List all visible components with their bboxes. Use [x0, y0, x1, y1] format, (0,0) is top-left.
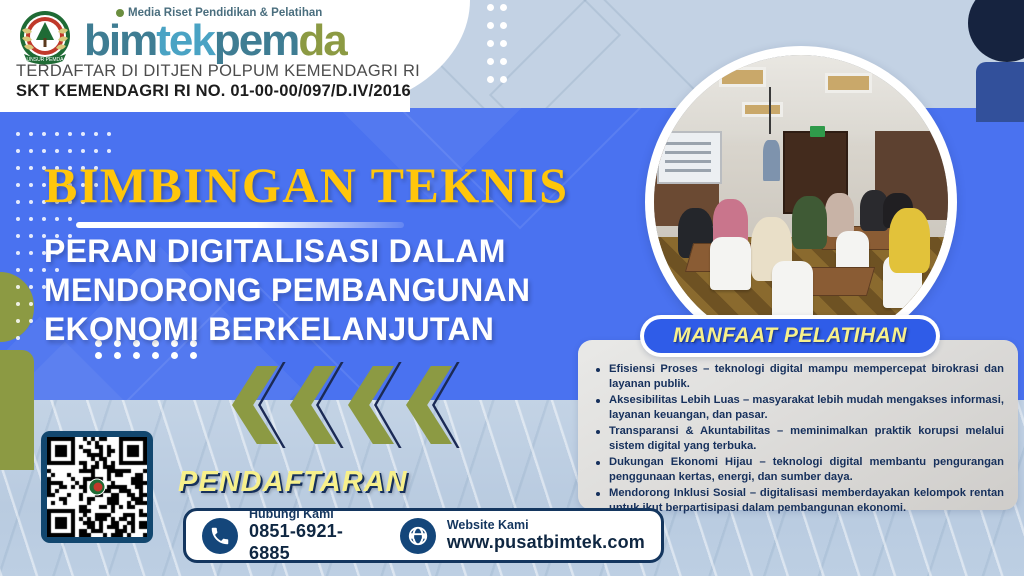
website-label: Website Kami: [447, 518, 645, 532]
seminar-photo: [654, 55, 948, 349]
contact-phone[interactable]: Hubungi Kami 0851-6921-6885: [202, 507, 376, 565]
phone-label: Hubungi Kami: [249, 507, 376, 521]
subtitle-line-2: MENDORONG PEMBANGUNAN: [44, 271, 604, 310]
benefits-list: Efisiensi Proses – teknologi digital mam…: [594, 362, 1004, 516]
poster-canvas: UNSUR PEMDA Media Riset Pendidikan & Pel…: [0, 0, 1024, 576]
brand-name: bimtekpemda: [84, 21, 346, 61]
chevron-arrows-decoration: [232, 366, 482, 444]
seminar-photo-frame: [645, 46, 957, 358]
qr-code-frame[interactable]: [41, 431, 153, 543]
brand-wordmark: Media Riset Pendidikan & Pelatihan bimte…: [84, 8, 346, 61]
subtitle-line-1: PERAN DIGITALISASI DALAM: [44, 232, 604, 271]
website-url: www.pusatbimtek.com: [447, 532, 645, 554]
benefits-panel: Efisiensi Proses – teknologi digital mam…: [578, 340, 1018, 510]
title-divider: [76, 222, 404, 228]
registration-label: PENDAFTARAN: [178, 466, 408, 499]
phone-number: 0851-6921-6885: [249, 521, 376, 564]
blue-rectangle-decoration: [976, 62, 1024, 122]
list-item: Efisiensi Proses – teknologi digital mam…: [594, 362, 1004, 392]
list-item: Transparansi & Akuntabilitas – meminimal…: [594, 424, 1004, 454]
subtitle-line-3: EKONOMI BERKELANJUTAN: [44, 310, 604, 349]
phone-icon: [202, 518, 238, 554]
page-title: BIMBINGAN TEKNIS: [44, 160, 569, 210]
list-item: Dukungan Ekonomi Hijau – teknologi digit…: [594, 455, 1004, 485]
registration-qr-code[interactable]: [47, 437, 147, 537]
registration-line-1: TERDAFTAR DI DITJEN POLPUM KEMENDAGRI RI: [16, 62, 420, 81]
contact-website[interactable]: Website Kami www.pusatbimtek.com: [400, 518, 645, 554]
olive-box-decoration: [0, 350, 34, 470]
registration-line-2: SKT KEMENDAGRI RI NO. 01-00-00/097/D.IV/…: [16, 82, 411, 101]
benefits-badge: MANFAAT PELATIHAN: [640, 315, 940, 357]
bimtek-logo-icon: UNSUR PEMDA: [14, 8, 76, 70]
globe-icon: [400, 518, 436, 554]
page-subtitle: PERAN DIGITALISASI DALAM MENDORONG PEMBA…: [44, 232, 604, 349]
benefits-badge-label: MANFAAT PELATIHAN: [673, 324, 907, 348]
contact-bar: Hubungi Kami 0851-6921-6885 Website Kami…: [183, 508, 664, 563]
list-item: Aksesibilitas Lebih Luas – masyarakat le…: [594, 393, 1004, 423]
qr-center-logo-icon: [89, 479, 106, 496]
